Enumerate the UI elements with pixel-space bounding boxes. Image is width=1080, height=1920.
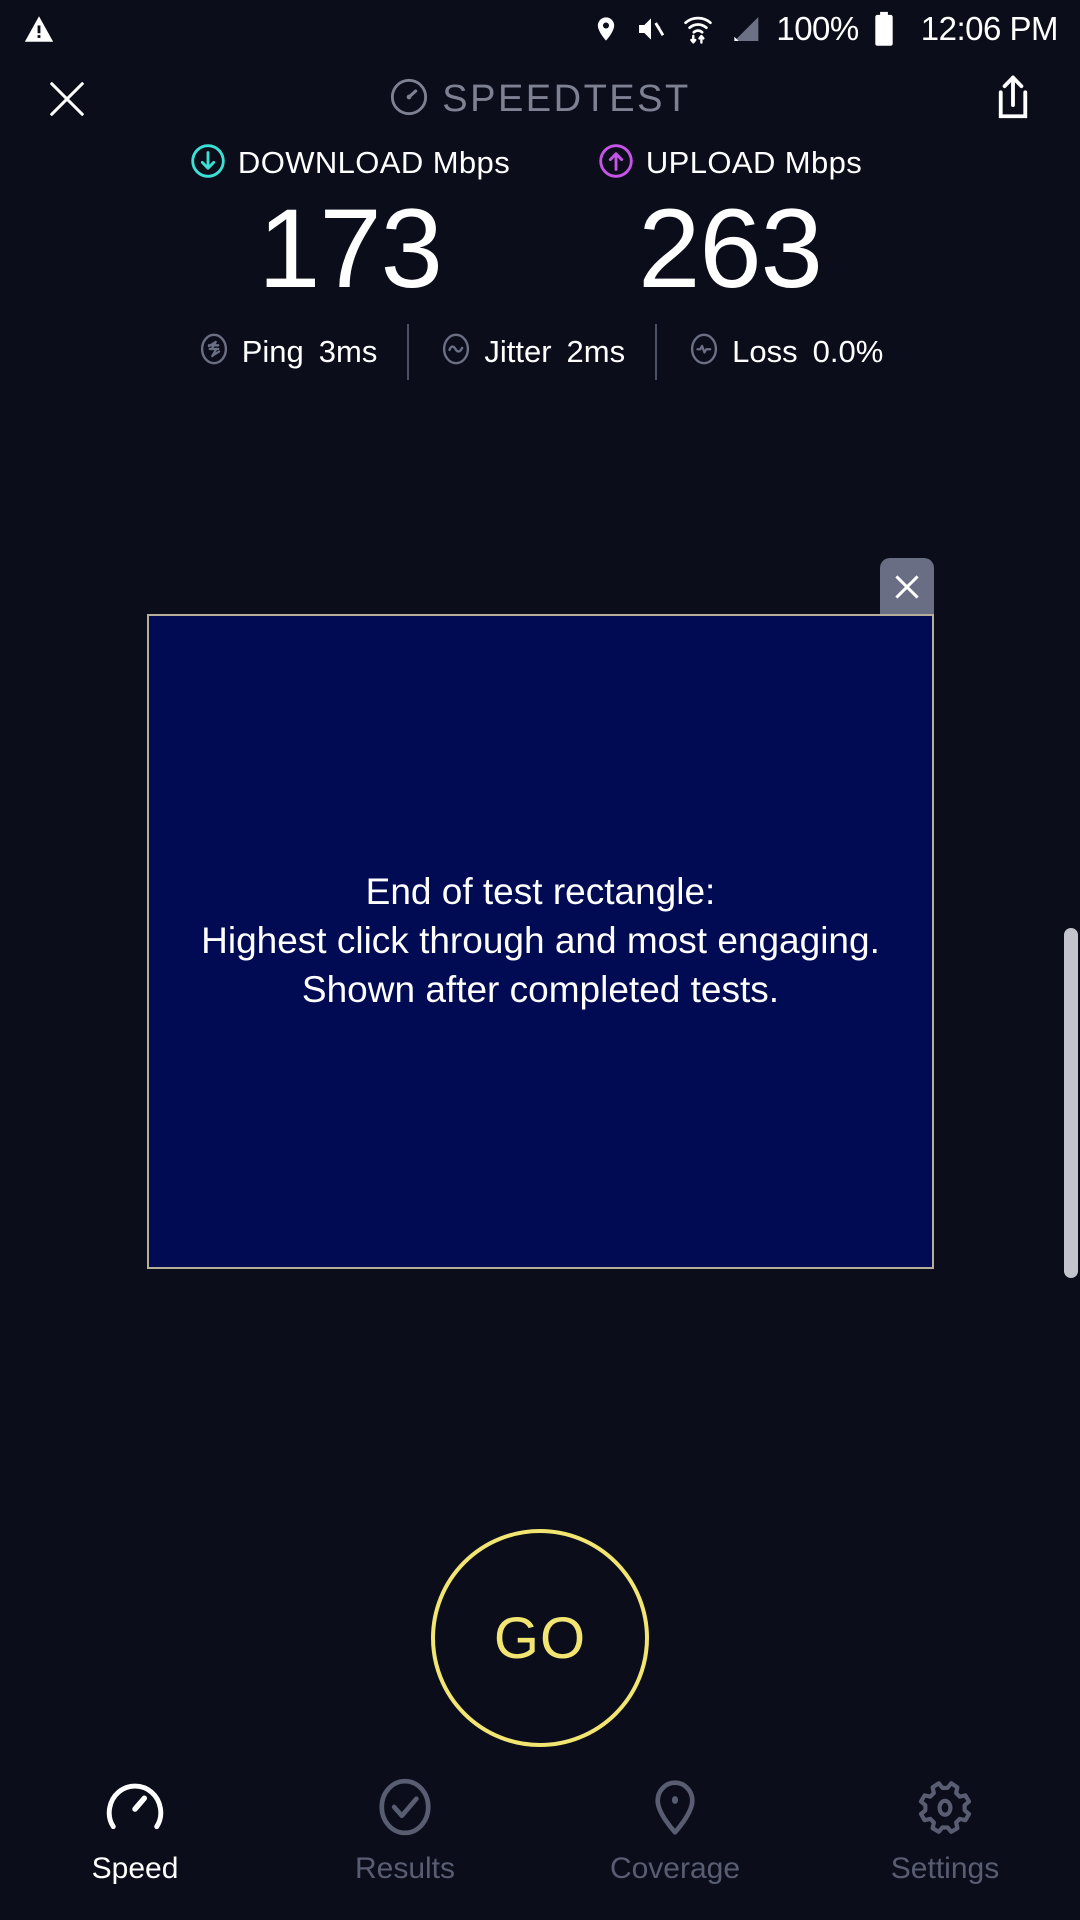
scrollbar-thumb[interactable] [1064, 928, 1078, 1278]
speedometer-icon [104, 1776, 166, 1838]
app-title: SPEEDTEST [442, 78, 690, 121]
share-icon[interactable] [990, 73, 1036, 125]
speedtest-app-screen: 100% 12:06 PM SPEEDTEST [0, 0, 1080, 1920]
close-icon[interactable] [44, 76, 90, 122]
ad-text: End of test rectangle: Highest click thr… [201, 868, 880, 1014]
nav-item-results[interactable]: Results [270, 1760, 540, 1920]
test-results: DOWNLOAD Mbps 173 UPLOAD Mbps 263 [0, 140, 1080, 380]
mute-icon [634, 13, 668, 45]
jitter-icon [439, 332, 473, 371]
nav-label-coverage: Coverage [610, 1852, 740, 1886]
connection-stats-row: Ping 3ms Jitter 2ms [0, 324, 1080, 380]
download-label: DOWNLOAD Mbps [238, 145, 510, 181]
download-value: 173 [258, 190, 442, 308]
go-button-label: GO [494, 1605, 586, 1672]
stat-jitter: Jitter 2ms [409, 332, 655, 371]
upload-metric: UPLOAD Mbps 263 [540, 140, 920, 308]
status-bar-clock: 12:06 PM [921, 10, 1058, 48]
ping-icon [197, 332, 231, 371]
loss-value: 0.0% [813, 334, 884, 370]
nav-item-settings[interactable]: Settings [810, 1760, 1080, 1920]
download-metric: DOWNLOAD Mbps 173 [160, 140, 540, 308]
app-brand: SPEEDTEST [90, 77, 990, 122]
ping-label: Ping [242, 334, 304, 370]
map-pin-icon [644, 1776, 706, 1838]
jitter-label: Jitter [484, 334, 551, 370]
download-header: DOWNLOAD Mbps [190, 140, 510, 186]
nav-label-speed: Speed [92, 1852, 179, 1886]
ad-close-button[interactable] [880, 558, 934, 616]
nav-item-coverage[interactable]: Coverage [540, 1760, 810, 1920]
download-arrow-icon [190, 143, 226, 184]
nav-label-settings: Settings [891, 1852, 999, 1886]
warning-triangle-icon [22, 12, 56, 46]
cellular-signal-icon [728, 13, 762, 45]
upload-header: UPLOAD Mbps [598, 140, 862, 186]
advertisement-banner[interactable]: End of test rectangle: Highest click thr… [147, 614, 934, 1269]
app-bar: SPEEDTEST [0, 58, 1080, 140]
jitter-value: 2ms [567, 334, 626, 370]
close-icon [893, 573, 921, 601]
nav-label-results: Results [355, 1852, 455, 1886]
status-bar-right: 100% 12:06 PM [592, 10, 1058, 48]
loss-label: Loss [732, 334, 797, 370]
go-button[interactable]: GO [431, 1529, 649, 1747]
wifi-icon [682, 12, 714, 46]
check-circle-icon [374, 1776, 436, 1838]
speed-metrics-row: DOWNLOAD Mbps 173 UPLOAD Mbps 263 [0, 140, 1080, 308]
status-bar-left [22, 12, 56, 46]
location-pin-icon [592, 12, 620, 46]
stat-ping: Ping 3ms [167, 332, 408, 371]
stat-loss: Loss 0.0% [657, 332, 913, 371]
battery-full-icon [873, 11, 895, 47]
status-bar: 100% 12:06 PM [0, 0, 1080, 58]
bottom-navigation: Speed Results Coverage [0, 1760, 1080, 1920]
loss-icon [687, 332, 721, 371]
battery-percent-label: 100% [776, 10, 858, 48]
speedometer-icon [389, 77, 429, 122]
upload-value: 263 [638, 190, 822, 308]
upload-arrow-icon [598, 143, 634, 184]
ping-value: 3ms [319, 334, 378, 370]
upload-label: UPLOAD Mbps [646, 145, 862, 181]
nav-item-speed[interactable]: Speed [0, 1760, 270, 1920]
gear-icon [914, 1776, 976, 1838]
